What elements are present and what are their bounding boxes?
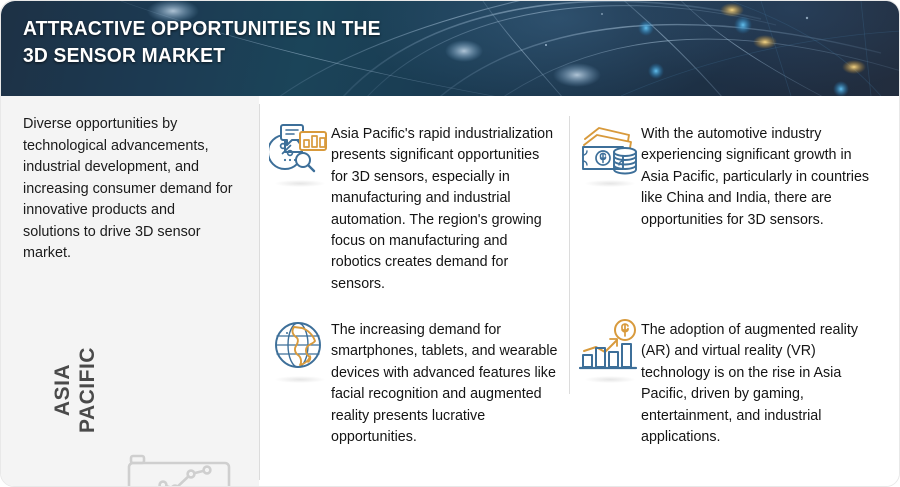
list-item-text: The increasing demand for smartphones, t… xyxy=(331,318,559,448)
list-item-text: With the automotive industry experiencin… xyxy=(641,122,881,231)
icon-shadow xyxy=(275,180,325,187)
region-label-wrapper: ASIA PACIFIC xyxy=(15,342,135,438)
divider-middle xyxy=(569,116,570,394)
list-item: With the automotive industry experiencin… xyxy=(579,122,895,231)
header-banner: ATTRACTIVE OPPORTUNITIES IN THE 3D SENSO… xyxy=(1,1,900,96)
page-title: ATTRACTIVE OPPORTUNITIES IN THE 3D SENSO… xyxy=(23,15,549,69)
icon-shadow xyxy=(275,376,325,383)
presentation-chart-search-icon xyxy=(119,444,239,487)
divider-left xyxy=(259,104,260,480)
region-label: ASIA PACIFIC xyxy=(50,347,100,433)
icon-shadow xyxy=(585,376,635,383)
globe-icon xyxy=(269,318,331,380)
money-cash-coins-icon xyxy=(579,122,641,184)
list-item-text: The adoption of augmented reality (AR) a… xyxy=(641,318,881,448)
infographic-card: ATTRACTIVE OPPORTUNITIES IN THE 3D SENSO… xyxy=(0,0,900,487)
content-area: Asia Pacific's rapid industrialization p… xyxy=(259,96,900,487)
sidebar-intro-text: Diverse opportunities by technological a… xyxy=(23,114,233,265)
list-item: The adoption of augmented reality (AR) a… xyxy=(579,318,895,448)
market-analysis-icon xyxy=(269,122,331,184)
growth-bar-chart-dollar-icon xyxy=(579,318,641,380)
icon-shadow xyxy=(585,180,635,187)
list-item: Asia Pacific's rapid industrialization p… xyxy=(269,122,569,295)
list-item-text: Asia Pacific's rapid industrialization p… xyxy=(331,122,559,295)
left-sidebar: Diverse opportunities by technological a… xyxy=(1,96,259,487)
list-item: The increasing demand for smartphones, t… xyxy=(269,318,569,448)
